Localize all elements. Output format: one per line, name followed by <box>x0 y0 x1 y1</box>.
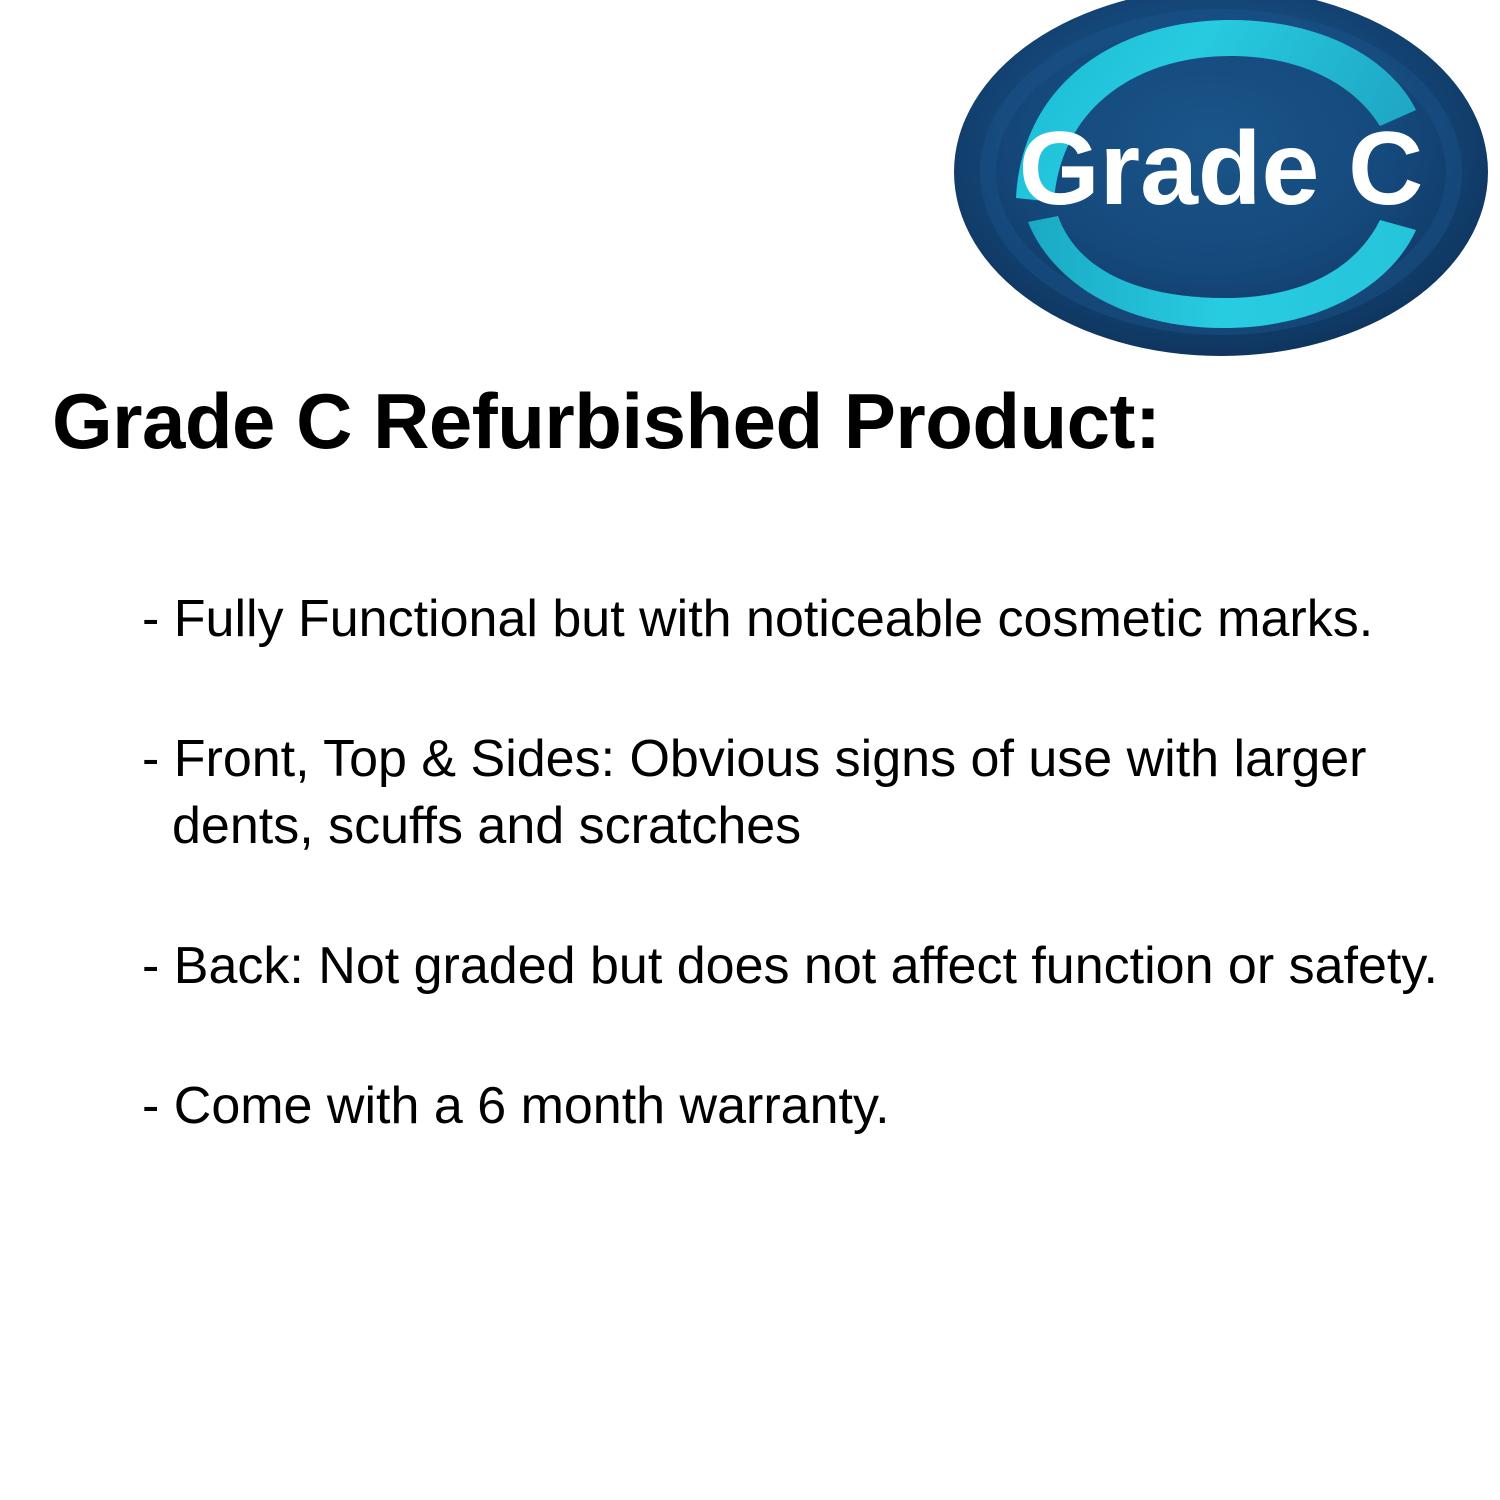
list-item: - Back: Not graded but does not affect f… <box>142 933 1442 1000</box>
list-item: - Come with a 6 month warranty. <box>142 1073 1442 1140</box>
grade-c-badge-icon: Grade C <box>950 0 1492 362</box>
page-root: Grade C Grade C Refurbished Product: - F… <box>0 0 1500 1500</box>
condition-bullet-list: - Fully Functional but with noticeable c… <box>142 586 1442 1140</box>
list-item: - Fully Functional but with noticeable c… <box>142 586 1442 653</box>
logo-wordmark: Grade C <box>1019 111 1424 227</box>
page-title: Grade C Refurbished Product: <box>52 378 1160 464</box>
list-item: - Front, Top & Sides: Obvious signs of u… <box>142 726 1387 860</box>
grade-c-logo: Grade C <box>950 0 1492 362</box>
